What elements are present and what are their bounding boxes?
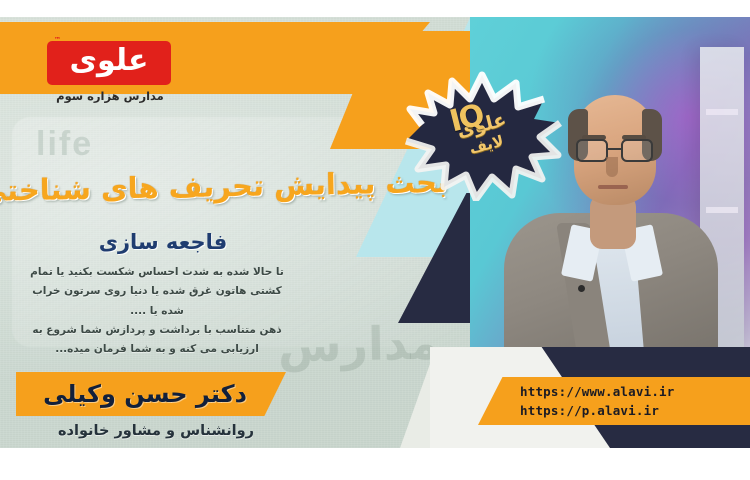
page-subtitle: فاجعه سازی <box>28 230 298 254</box>
torn-hole-shape <box>404 69 564 201</box>
watermark-madares: مدارس <box>278 316 440 373</box>
trademark-icon: ™ <box>54 36 61 44</box>
body-paragraph-1: تا حالا شده به شدت احساس شکست بکنید یا ت… <box>26 263 288 321</box>
brand-logo[interactable]: علوی <box>47 41 171 85</box>
torn-paper-badge: علوی لایف IQ <box>404 69 564 201</box>
lapel-mic-icon <box>578 285 585 292</box>
top-margin <box>0 0 750 17</box>
nose-shape <box>606 157 618 177</box>
bottom-margin <box>0 448 750 480</box>
watermark-life: life <box>36 125 93 164</box>
body-paragraph-2: ذهن متناسب با برداشت و پردازش شما شروع ب… <box>26 321 288 360</box>
brand-logo-word: علوی <box>69 46 148 76</box>
brand-subtitle: مدارس هزاره سوم <box>40 89 180 103</box>
speaker-name-band: دکتر حسن وکیلی <box>16 372 286 416</box>
glasses-bridge <box>608 148 622 150</box>
website-link-secondary[interactable]: https://p.alavi.ir <box>520 401 750 420</box>
website-links-band[interactable]: https://www.alavi.ir https://p.alavi.ir <box>478 377 750 425</box>
mouth-shape <box>598 185 628 189</box>
speaker-name: دکتر حسن وکیلی <box>43 380 247 408</box>
promo-banner: life مدارس <box>0 17 750 448</box>
website-link-primary[interactable]: https://www.alavi.ir <box>520 382 750 401</box>
lens-right <box>621 139 653 162</box>
lens-left <box>576 139 608 162</box>
speaker-role: روانشناس و مشاور خانواده <box>16 423 296 439</box>
